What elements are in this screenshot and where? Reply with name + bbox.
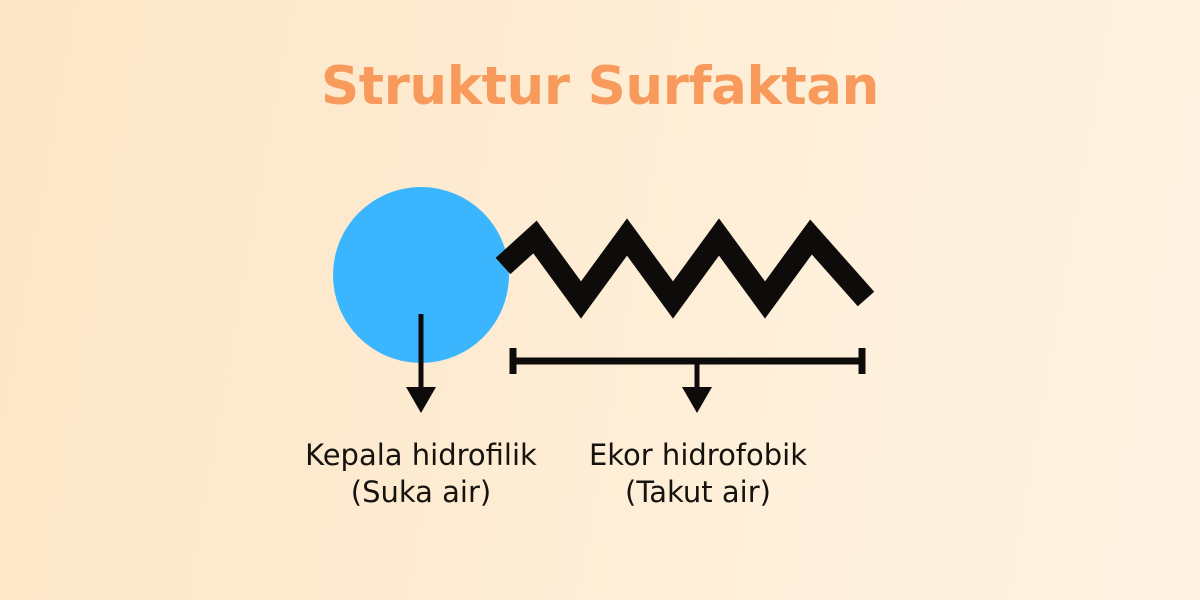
head-arrow-head: [406, 387, 436, 413]
hydrophobic-tail-zigzag: [503, 237, 866, 300]
tail-span-bracket: [511, 348, 864, 374]
hydrophobic-tail-label: Ekor hidrofobik (Takut air): [498, 437, 898, 511]
hydrophobic-tail-label-line2: (Takut air): [498, 474, 898, 511]
hydrophobic-tail-label-line1: Ekor hidrofobik: [589, 438, 807, 472]
surfactant-diagram-canvas: Struktur Surfaktan Kepala hidrofilik (Su…: [0, 0, 1200, 600]
tail-arrow: [682, 360, 712, 413]
tail-arrow-head: [682, 387, 712, 413]
